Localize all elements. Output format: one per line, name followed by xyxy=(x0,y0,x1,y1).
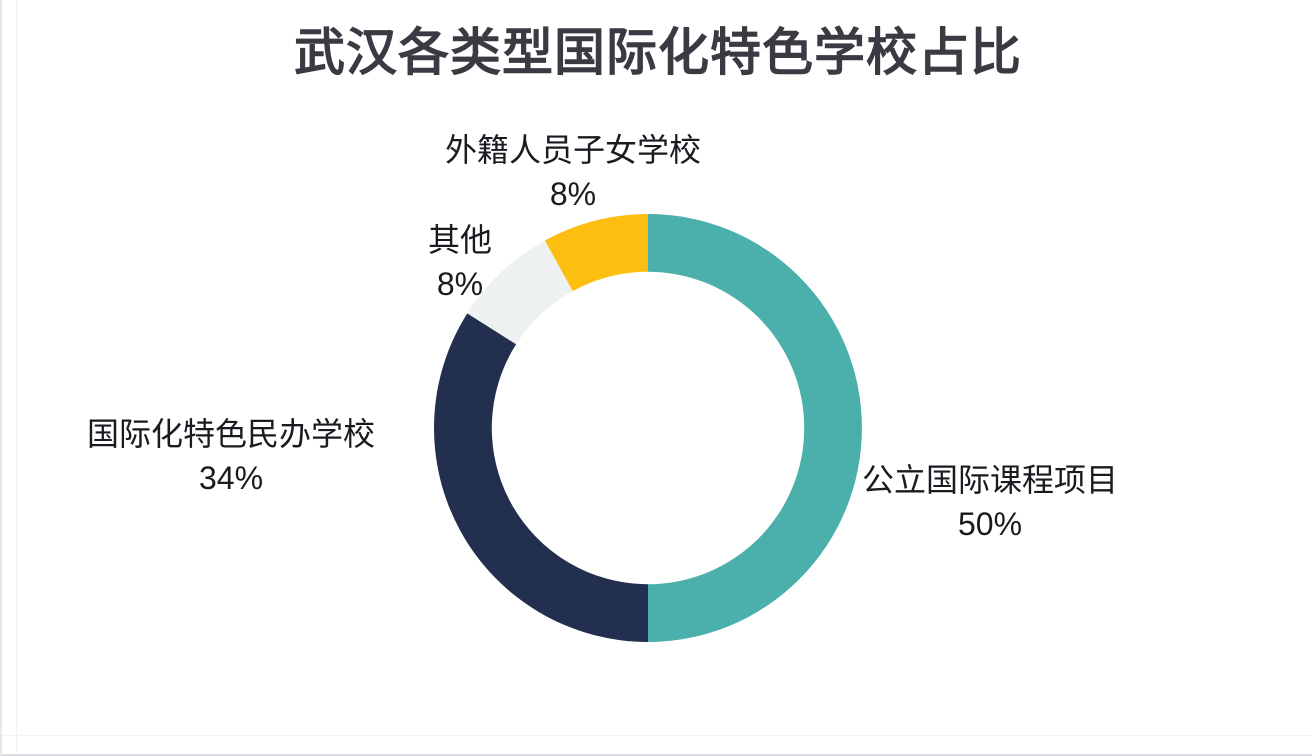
slice-label-other-value: 8% xyxy=(400,262,520,306)
slide-frame-bottom-edge xyxy=(2,735,1312,736)
donut-slice[interactable] xyxy=(648,214,862,642)
slice-label-other: 其他 8% xyxy=(400,218,520,306)
donut-slice[interactable] xyxy=(434,313,648,642)
slide-frame-left-edge xyxy=(16,0,17,756)
chart-title: 武汉各类型国际化特色学校占比 xyxy=(2,22,1312,84)
chart-slide: 武汉各类型国际化特色学校占比 外籍人员子女学校 8% 其他 8% 国际化特色民办… xyxy=(0,0,1312,756)
slice-label-foreign-school: 外籍人员子女学校 8% xyxy=(445,128,701,216)
slice-label-public-program: 公立国际课程项目 50% xyxy=(862,458,1118,546)
slice-label-foreign-school-name: 外籍人员子女学校 xyxy=(445,128,701,172)
slice-label-public-program-value: 50% xyxy=(862,502,1118,546)
slice-label-foreign-school-value: 8% xyxy=(445,172,701,216)
slice-label-private-school-value: 34% xyxy=(87,456,375,500)
slice-label-public-program-name: 公立国际课程项目 xyxy=(862,458,1118,502)
slice-label-private-school-name: 国际化特色民办学校 xyxy=(87,412,375,456)
slice-label-private-school: 国际化特色民办学校 34% xyxy=(87,412,375,500)
slice-label-other-name: 其他 xyxy=(400,218,520,262)
